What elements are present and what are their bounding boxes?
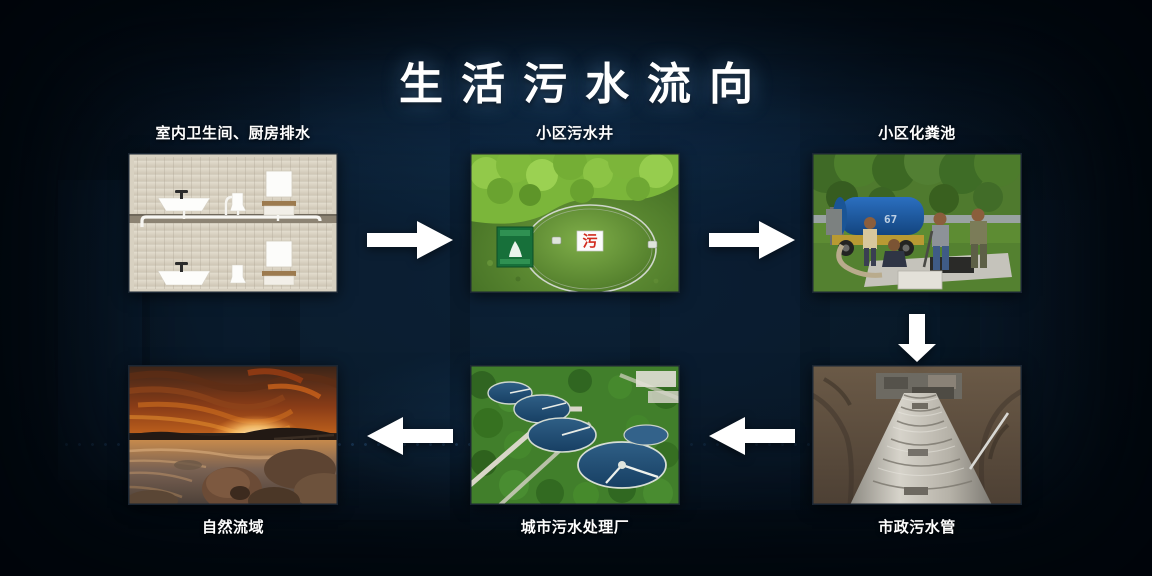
arrow-right-icon <box>707 218 797 267</box>
bathroom-drainage-cross-section-photo <box>128 153 338 293</box>
arrow-down-icon <box>896 312 938 369</box>
sewage-treatment-plant-aerial-photo <box>470 365 680 505</box>
flow-node-indoor-drainage[interactable]: 室内卫生间、厨房排水 <box>128 122 338 293</box>
svg-text:污: 污 <box>582 232 597 250</box>
page-title: 生活污水流向 <box>0 48 1152 112</box>
arrow-right-icon <box>365 218 455 267</box>
flow-node-label: 市政污水管 <box>812 516 1022 537</box>
diagram-stage: 生活污水流向 室内卫生间、厨房排水 <box>0 0 1152 576</box>
sunset-coastal-water-photo <box>128 365 338 505</box>
arrow-left-icon <box>707 414 797 463</box>
flow-node-label: 小区污水井 <box>470 122 680 143</box>
flow-node-label: 自然流域 <box>128 516 338 537</box>
concrete-sewage-pipe-trench-photo <box>812 365 1022 505</box>
flow-node-label: 城市污水处理厂 <box>470 516 680 537</box>
flow-node-label: 小区化粪池 <box>812 122 1022 143</box>
flow-node-municipal-sewage-pipe[interactable]: 市政污水管 <box>812 365 1022 537</box>
flow-node-sewage-treatment-plant[interactable]: 城市污水处理厂 <box>470 365 680 537</box>
community-sewage-manhole-photo: 污 <box>470 153 680 293</box>
arrow-left-icon <box>365 414 455 463</box>
svg-text:67: 67 <box>884 213 897 226</box>
septic-tank-vacuum-truck-photo: 67 <box>812 153 1022 293</box>
flow-node-label: 室内卫生间、厨房排水 <box>128 122 338 143</box>
flow-node-community-sewage-well[interactable]: 小区污水井 <box>470 122 680 293</box>
flow-node-natural-watershed[interactable]: 自然流域 <box>128 365 338 537</box>
flow-node-community-septic-tank[interactable]: 小区化粪池 <box>812 122 1022 293</box>
